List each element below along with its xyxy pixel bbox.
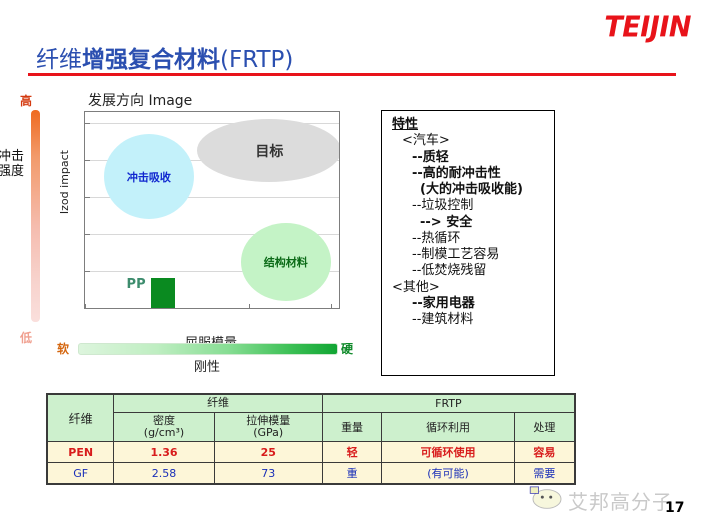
feature-line: --建筑材料 xyxy=(382,312,554,328)
chart-x-tick-mark xyxy=(85,304,86,308)
chart-y-tick-mark xyxy=(85,123,90,124)
page-title: 纤维增强复合材料(FRTP) xyxy=(36,40,293,74)
header-density-line2: (g/cm³) xyxy=(116,427,211,439)
stiffness-soft-label: 软 xyxy=(57,340,69,357)
chart-y-tick-mark xyxy=(85,234,90,235)
feature-line: --家用电器 xyxy=(382,296,554,312)
scatter-plot-area: 01002003004005000100200300冲击吸收目标结构材料PP xyxy=(84,111,340,309)
cell-recycle: (有可能) xyxy=(382,463,514,485)
header-recycle: 循环利用 xyxy=(382,413,514,442)
cell-process: 需要 xyxy=(514,463,575,485)
feature-line: <其他> xyxy=(382,280,554,296)
feature-line: --低焚烧残留 xyxy=(382,263,554,279)
chart-x-tick-mark xyxy=(249,304,250,308)
feature-line: --热循环 xyxy=(382,231,554,247)
header-weight: 重量 xyxy=(322,413,382,442)
header-group-frtp: FRTP xyxy=(322,394,575,413)
chart-bubble: 结构材料 xyxy=(241,223,331,301)
stiffness-hard-label: 硬 xyxy=(341,340,353,357)
page-title-seg2: 增强复 xyxy=(82,47,151,73)
comparison-table: 纤维 纤维 FRTP 密度 (g/cm³) 拉伸模量 (GPa) 重量 循环利用… xyxy=(46,393,576,485)
features-list: <汽车>--质轻--高的耐冲击性(大的冲击吸收能)--垃圾控制--> 安全--热… xyxy=(382,133,554,328)
title-underline-rule xyxy=(28,73,676,76)
chart-bubble: 目标 xyxy=(197,119,340,182)
header-fiber-name: 纤维 xyxy=(47,394,114,442)
cell-modulus: 25 xyxy=(214,442,322,463)
chart-pp-marker xyxy=(151,278,176,308)
impact-strength-gradient-bar xyxy=(31,110,40,322)
cell-density: 2.58 xyxy=(114,463,214,485)
chart-y-axis-title: Izod impact xyxy=(58,150,71,214)
table-header-row-2: 密度 (g/cm³) 拉伸模量 (GPa) 重量 循环利用 处理 xyxy=(47,413,575,442)
feature-line: --> 安全 xyxy=(382,215,554,231)
cell-weight: 轻 xyxy=(322,442,382,463)
teijin-logo: TEIJIN xyxy=(604,11,691,44)
table-body: 纤维 纤维 FRTP 密度 (g/cm³) 拉伸模量 (GPa) 重量 循环利用… xyxy=(47,394,575,484)
cell-name: GF xyxy=(47,463,114,485)
cell-weight: 重 xyxy=(322,463,382,485)
header-group-fiber: 纤维 xyxy=(114,394,322,413)
cell-modulus: 73 xyxy=(214,463,322,485)
header-process: 处理 xyxy=(514,413,575,442)
vertical-scale-low-label: 低 xyxy=(20,329,32,346)
chart-bubble: 冲击吸收 xyxy=(104,134,194,219)
watermark-text: 艾邦高分子 xyxy=(568,486,673,515)
page-title-seg3: 合材料 xyxy=(151,47,220,73)
header-modulus: 拉伸模量 (GPa) xyxy=(214,413,322,442)
cell-process: 容易 xyxy=(514,442,575,463)
table-row: PEN 1.36 25 轻 可循环使用 容易 xyxy=(47,442,575,463)
header-modulus-line2: (GPa) xyxy=(217,427,320,439)
features-panel: 特性 <汽车>--质轻--高的耐冲击性(大的冲击吸收能)--垃圾控制--> 安全… xyxy=(381,110,555,376)
chart-y-tick-mark xyxy=(85,197,90,198)
chart-y-tick-mark xyxy=(85,308,90,309)
feature-line: --质轻 xyxy=(382,150,554,166)
stiffness-axis-label: 刚性 xyxy=(78,356,336,375)
chart-x-tick-mark xyxy=(331,304,332,308)
chart-pp-label: PP xyxy=(127,277,146,292)
header-density: 密度 (g/cm³) xyxy=(114,413,214,442)
feature-line: --高的耐冲击性 xyxy=(382,166,554,182)
features-title: 特性 xyxy=(382,117,554,133)
page-number: 17 xyxy=(665,500,684,516)
wechat-icon xyxy=(528,485,566,513)
cell-recycle: 可循环使用 xyxy=(382,442,514,463)
vertical-scale-high-label: 高 xyxy=(20,92,32,109)
cell-density: 1.36 xyxy=(114,442,214,463)
feature-line: (大的冲击吸收能) xyxy=(382,182,554,198)
chart-caption: 发展方向 Image xyxy=(88,90,192,110)
table-header-row-1: 纤维 纤维 FRTP xyxy=(47,394,575,413)
chart-y-tick-mark xyxy=(85,160,90,161)
cell-name: PEN xyxy=(47,442,114,463)
stiffness-gradient-bar xyxy=(78,343,338,355)
feature-line: --制模工艺容易 xyxy=(382,247,554,263)
table-row: GF 2.58 73 重 (有可能) 需要 xyxy=(47,463,575,485)
page-title-seg1: 纤维 xyxy=(36,47,82,73)
chart-y-tick-mark xyxy=(85,271,90,272)
impact-strength-axis-label: 冲击强度 xyxy=(0,150,26,179)
feature-line: <汽车> xyxy=(382,133,554,149)
page-title-seg4: (FRTP) xyxy=(220,47,293,73)
feature-line: --垃圾控制 xyxy=(382,198,554,214)
